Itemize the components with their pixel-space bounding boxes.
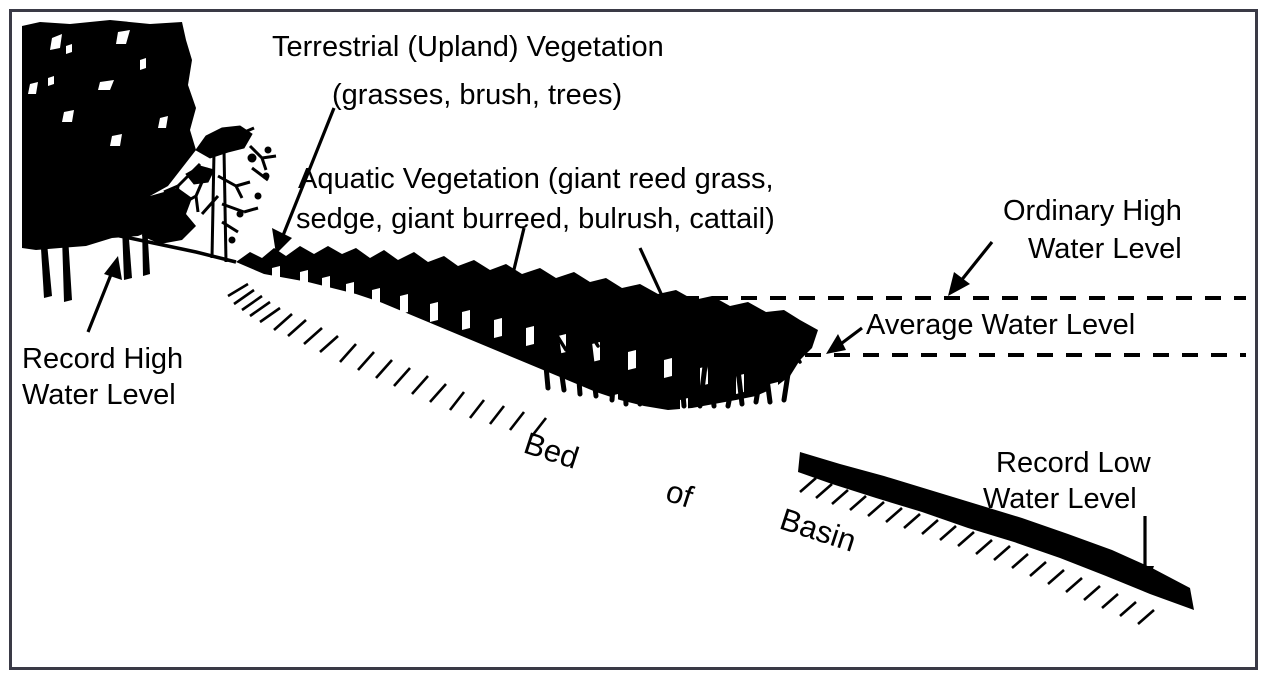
ordinary-high-water-level-label-line1: Ordinary High xyxy=(1003,195,1182,227)
record-low-water-level-label-line2: Water Level xyxy=(983,483,1137,515)
record-high-water-level-label-line1: Record High xyxy=(22,343,183,375)
ordinary-high-water-level-label-line2: Water Level xyxy=(1028,233,1182,265)
aquatic-vegetation-label-line1: Aquatic Vegetation (giant reed grass, xyxy=(298,163,774,195)
record-high-water-level-label-line2: Water Level xyxy=(22,379,176,411)
diagram-figure: Terrestrial (Upland) Vegetation (grasses… xyxy=(0,0,1273,689)
basin-cross-section-svg: Terrestrial (Upland) Vegetation (grasses… xyxy=(0,0,1273,689)
terrestrial-vegetation-label-line2: (grasses, brush, trees) xyxy=(332,79,622,111)
average-water-level-label: Average Water Level xyxy=(866,309,1135,341)
record-low-water-level-label-line1: Record Low xyxy=(996,447,1152,479)
aquatic-vegetation-label-line2: sedge, giant burreed, bulrush, cattail) xyxy=(296,203,775,235)
terrestrial-vegetation-label-line1: Terrestrial (Upland) Vegetation xyxy=(272,31,664,63)
